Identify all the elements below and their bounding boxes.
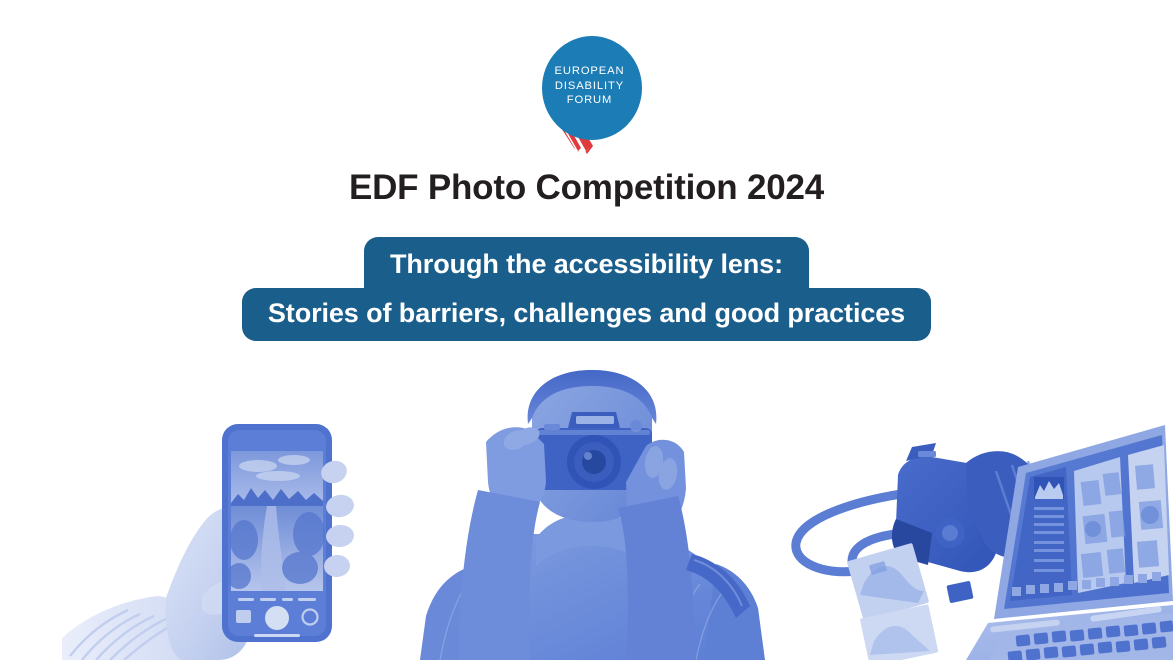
dslr-camera-and-laptop bbox=[790, 415, 1173, 660]
phone-screen bbox=[227, 451, 325, 591]
subtitle-banner: Through the accessibility lens: Stories … bbox=[0, 237, 1173, 341]
logo-wrap: EUROPEAN DISABILITY FORUM bbox=[0, 36, 1173, 154]
gallery-thumb-icon bbox=[236, 610, 251, 623]
page-title: EDF Photo Competition 2024 bbox=[0, 168, 1173, 208]
person-with-film-camera bbox=[420, 370, 765, 660]
shutter-button-icon bbox=[265, 606, 289, 630]
memory-card bbox=[946, 581, 973, 604]
european-disability-forum-logo: EUROPEAN DISABILITY FORUM bbox=[529, 36, 645, 154]
hand-holding-smartphone bbox=[62, 410, 402, 660]
logo-circle-icon bbox=[542, 36, 642, 140]
subtitle-line-1: Through the accessibility lens: bbox=[364, 237, 809, 289]
subtitle-line-2: Stories of barriers, challenges and good… bbox=[242, 288, 931, 341]
photo-band bbox=[0, 360, 1173, 660]
home-indicator bbox=[254, 634, 300, 637]
poster: EUROPEAN DISABILITY FORUM EDF Photo Comp… bbox=[0, 0, 1173, 660]
camera-brand-plate bbox=[576, 416, 614, 424]
